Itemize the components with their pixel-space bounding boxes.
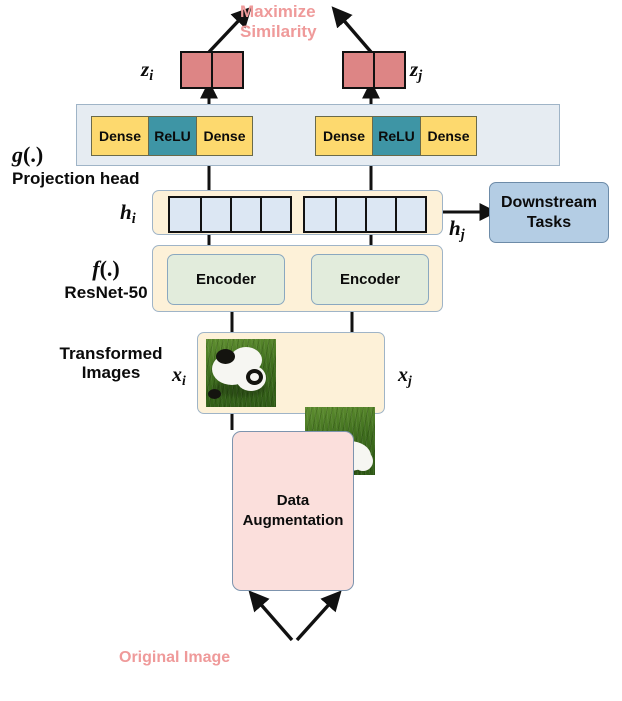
z-j-label: zj xyxy=(410,57,422,85)
encoder-name: ResNet-50 xyxy=(62,283,150,302)
projection-head-name: Projection head xyxy=(12,169,140,188)
z-i-vector xyxy=(180,51,244,89)
h-i-cell xyxy=(170,198,200,231)
encoder-symbol-line: f(.) xyxy=(62,256,150,282)
z-i-symbol: z xyxy=(141,57,149,81)
downstream-tasks-box[interactable]: Downstream Tasks xyxy=(489,182,609,243)
x-j-symbol: x xyxy=(398,364,408,386)
z-i-cell xyxy=(211,53,242,87)
x-i-label: xi xyxy=(172,364,186,389)
transformed-images-caption: Transformed Images xyxy=(50,344,172,382)
projection-head-symbol-line: g(.) xyxy=(12,142,140,168)
z-j-symbol: z xyxy=(410,57,418,81)
h-i-label: hi xyxy=(120,200,136,228)
x-i-symbol: x xyxy=(172,364,182,386)
h-i-cell xyxy=(230,198,260,231)
h-i-cell xyxy=(260,198,290,231)
projection-head-right-branch: Dense ReLU Dense xyxy=(315,116,477,156)
encoder-right-label: Encoder xyxy=(340,271,400,288)
x-j-subscript: j xyxy=(408,373,412,388)
z-i-subscript: i xyxy=(149,68,153,84)
downstream-tasks-line2: Tasks xyxy=(501,213,597,232)
h-j-vector xyxy=(303,196,427,233)
encoder-left[interactable]: Encoder xyxy=(167,254,285,305)
projection-head-symbol: g xyxy=(12,142,23,167)
encoder-symbol: f xyxy=(92,256,99,281)
x-i-subscript: i xyxy=(182,373,186,388)
transformed-caption-line1: Transformed xyxy=(50,344,172,363)
h-i-subscript: i xyxy=(132,211,136,227)
encoder-container: Encoder Encoder xyxy=(152,245,443,312)
x-j-label: xj xyxy=(398,364,412,389)
original-image-caption: Original Image xyxy=(119,649,230,668)
downstream-tasks-line1: Downstream xyxy=(501,193,597,212)
encoder-right[interactable]: Encoder xyxy=(311,254,429,305)
h-j-cell xyxy=(305,198,335,231)
encoder-label-group: f(.) ResNet-50 xyxy=(62,256,150,302)
z-j-vector xyxy=(342,51,406,89)
projection-right-relu[interactable]: ReLU xyxy=(372,117,420,155)
h-j-subscript: j xyxy=(461,227,465,243)
h-j-label: hj xyxy=(449,216,465,244)
z-j-subscript: j xyxy=(418,68,422,84)
maximize-similarity-line2: Similarity xyxy=(240,22,360,42)
projection-left-relu[interactable]: ReLU xyxy=(148,117,196,155)
z-j-cell xyxy=(344,53,373,87)
z-i-label: zi xyxy=(141,57,153,85)
h-j-symbol: h xyxy=(449,216,461,240)
projection-head-symbol-args: (.) xyxy=(23,142,43,167)
h-i-vector xyxy=(168,196,292,233)
transformed-caption-line2: Images xyxy=(50,363,172,382)
transformed-image-left xyxy=(206,339,276,407)
data-augmentation-box[interactable]: Data Augmentation xyxy=(232,431,354,591)
h-i-symbol: h xyxy=(120,200,132,224)
data-augmentation-line1: Data xyxy=(243,491,344,511)
z-j-cell xyxy=(373,53,404,87)
projection-right-dense-2[interactable]: Dense xyxy=(420,117,476,155)
h-j-cell xyxy=(365,198,395,231)
data-augmentation-line2: Augmentation xyxy=(243,511,344,531)
z-i-cell xyxy=(182,53,211,87)
maximize-similarity-label: Maximize Similarity xyxy=(240,2,360,42)
encoder-symbol-args: (.) xyxy=(100,256,120,281)
projection-head-container: Dense ReLU Dense Dense ReLU Dense xyxy=(76,104,560,166)
simclr-diagram: Maximize Similarity zi zj Dense ReLU Den… xyxy=(0,0,622,701)
projection-head-label-group: g(.) Projection head xyxy=(12,142,140,188)
encoder-left-label: Encoder xyxy=(196,271,256,288)
maximize-similarity-line1: Maximize xyxy=(240,2,360,22)
projection-right-dense-1[interactable]: Dense xyxy=(316,117,372,155)
h-i-cell xyxy=(200,198,230,231)
projection-left-dense-2[interactable]: Dense xyxy=(196,117,252,155)
h-j-cell xyxy=(335,198,365,231)
h-j-cell xyxy=(395,198,425,231)
